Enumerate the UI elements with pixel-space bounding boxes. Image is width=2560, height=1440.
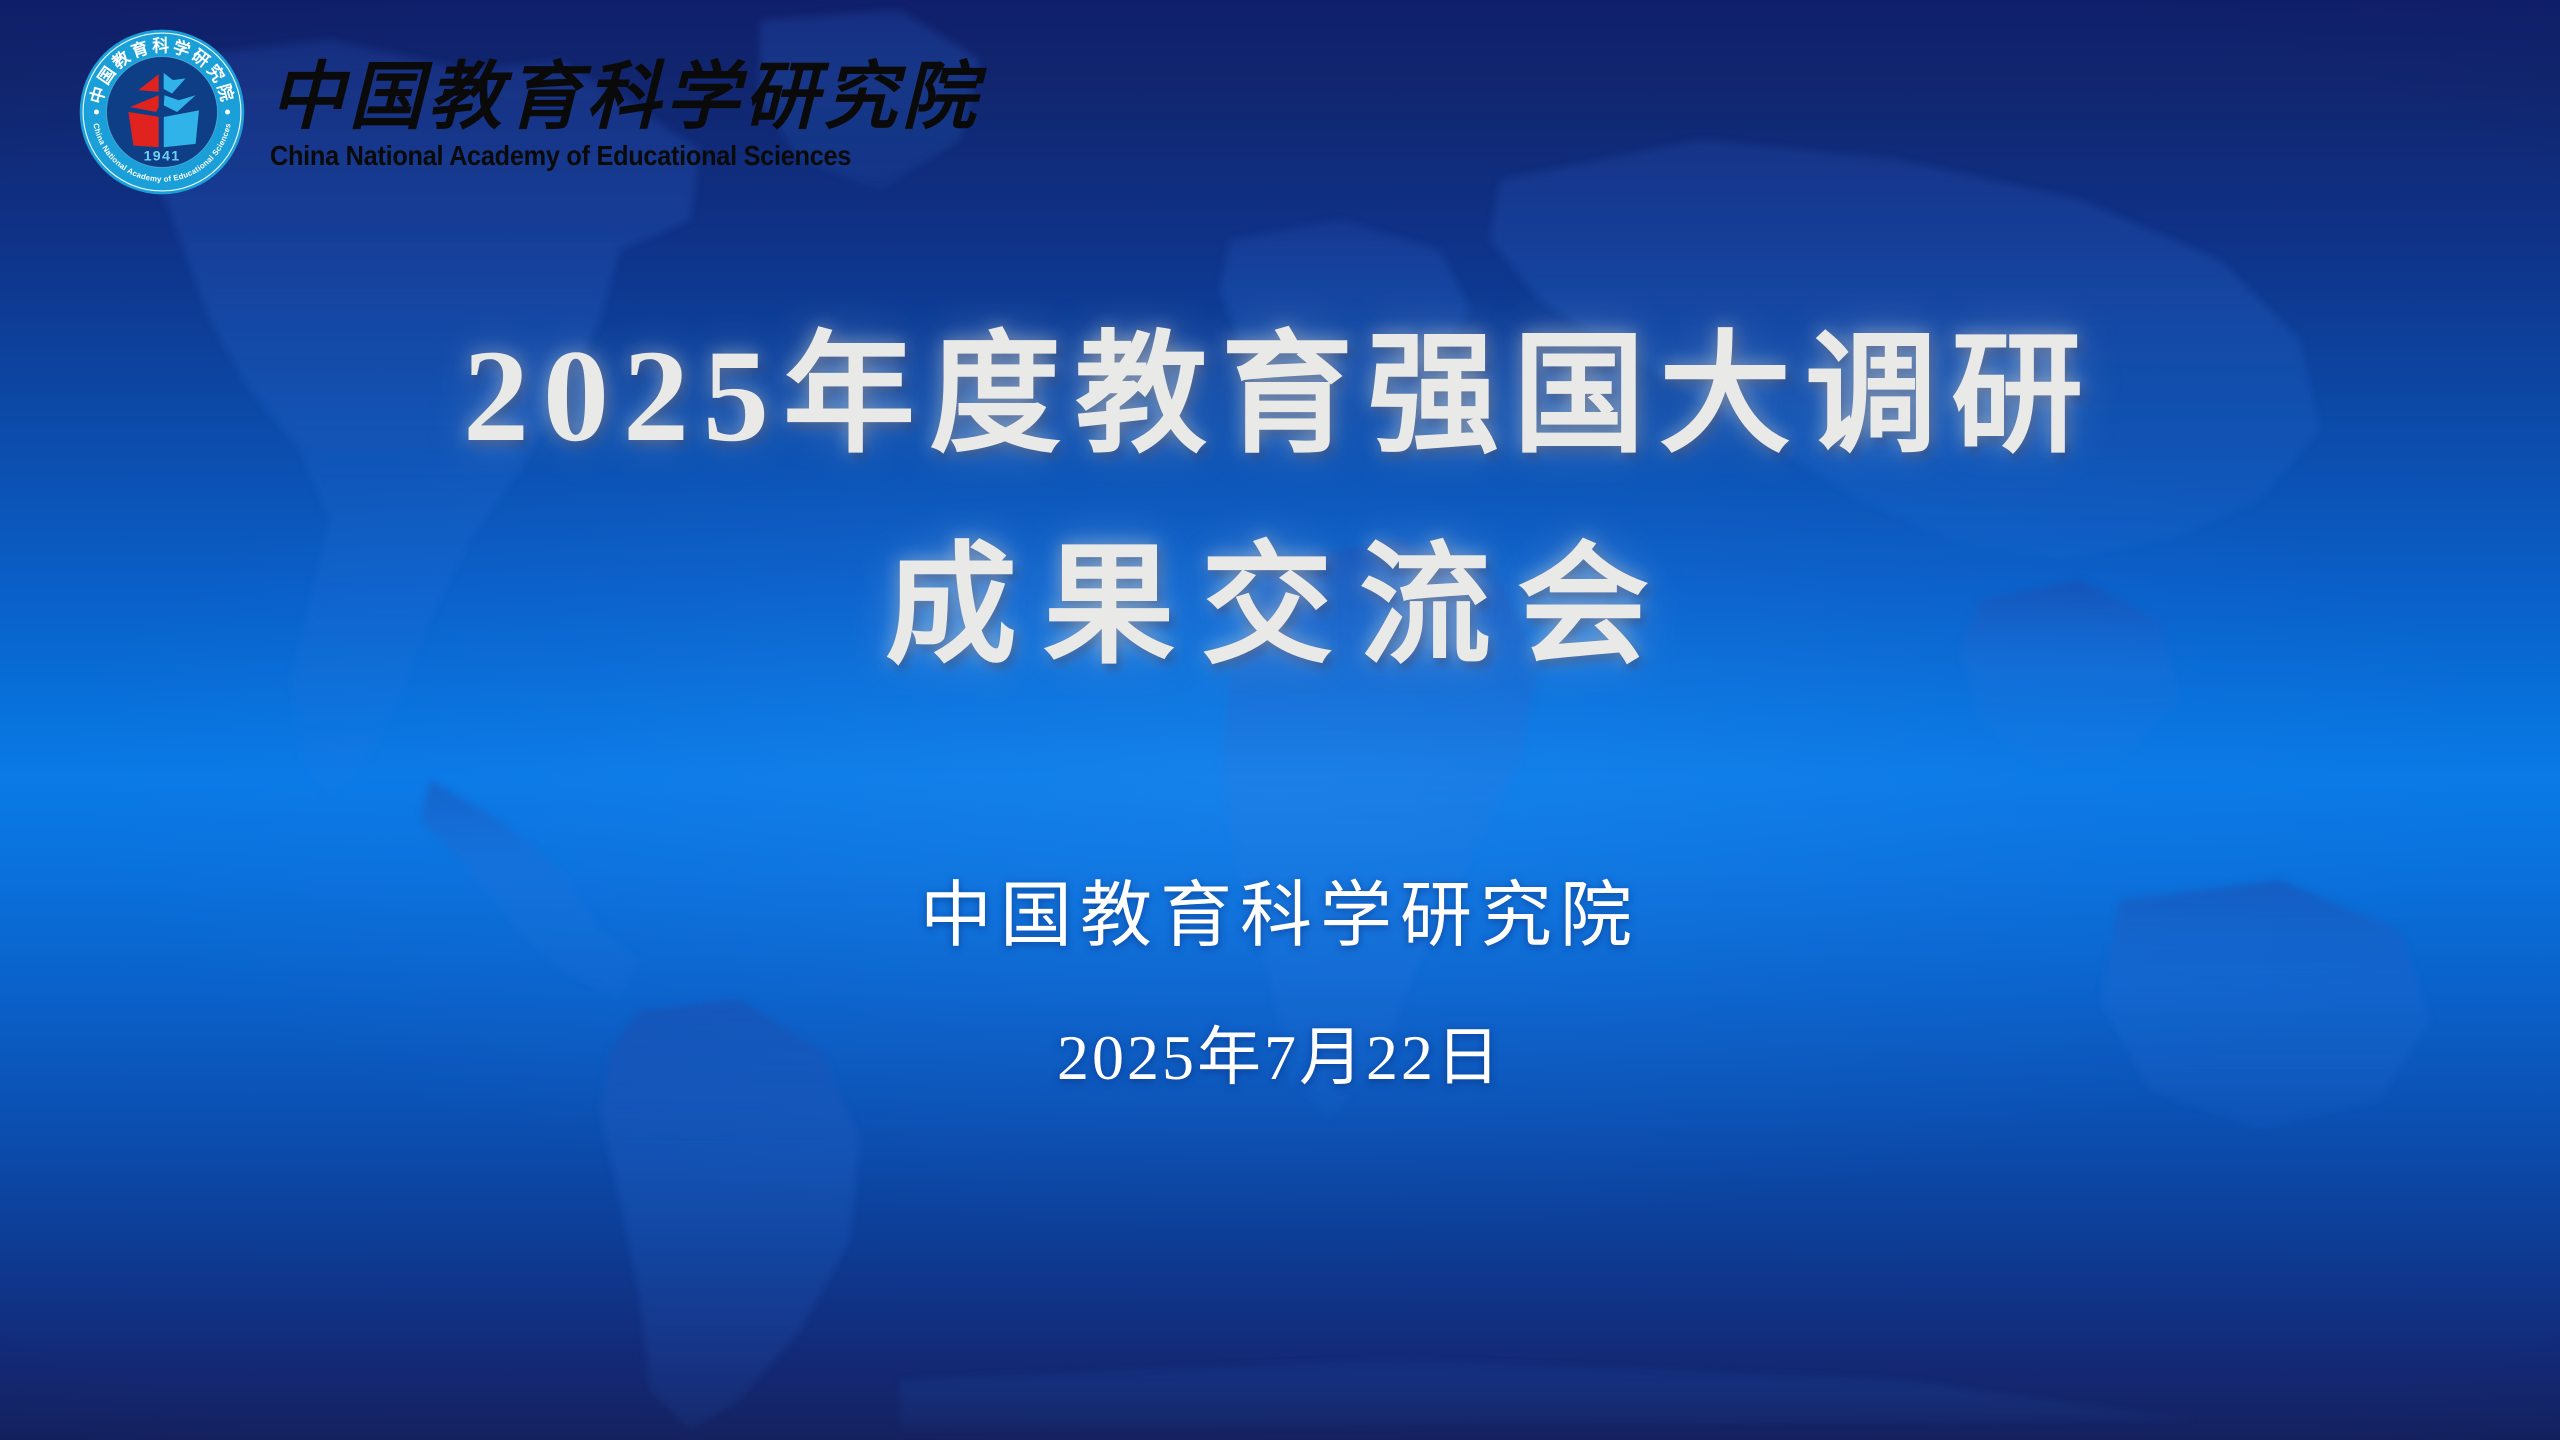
slide-title-line-2: 成果交流会: [0, 511, 2560, 702]
slide-title: 2025年度教育强国大调研 成果交流会: [0, 300, 2560, 703]
presentation-title-slide: 中国教育科学研究院 China National Academy of Educ…: [0, 0, 2560, 1440]
svg-text:1941: 1941: [144, 149, 181, 165]
cnaes-circular-emblem-icon: 中国教育科学研究院 China National Academy of Educ…: [78, 28, 246, 196]
vignette-overlay: [0, 0, 2560, 1440]
organization-logo-lockup: 中国教育科学研究院 China National Academy of Educ…: [78, 28, 981, 196]
organization-name-cn: 中国教育科学研究院: [270, 61, 981, 136]
world-map-background: [0, 0, 2560, 1440]
slide-footer: 中国教育科学研究院 2025年7月22日: [0, 870, 2560, 1099]
slide-title-line-1: 2025年度教育强国大调研: [0, 300, 2560, 491]
footer-organization: 中国教育科学研究院: [0, 870, 2560, 964]
organization-name-en: China National Academy of Educational Sc…: [270, 141, 924, 171]
footer-date: 2025年7月22日: [0, 1016, 2560, 1099]
center-glow: [80, 328, 2480, 1228]
organization-name-block: 中国教育科学研究院 China National Academy of Educ…: [270, 61, 981, 171]
